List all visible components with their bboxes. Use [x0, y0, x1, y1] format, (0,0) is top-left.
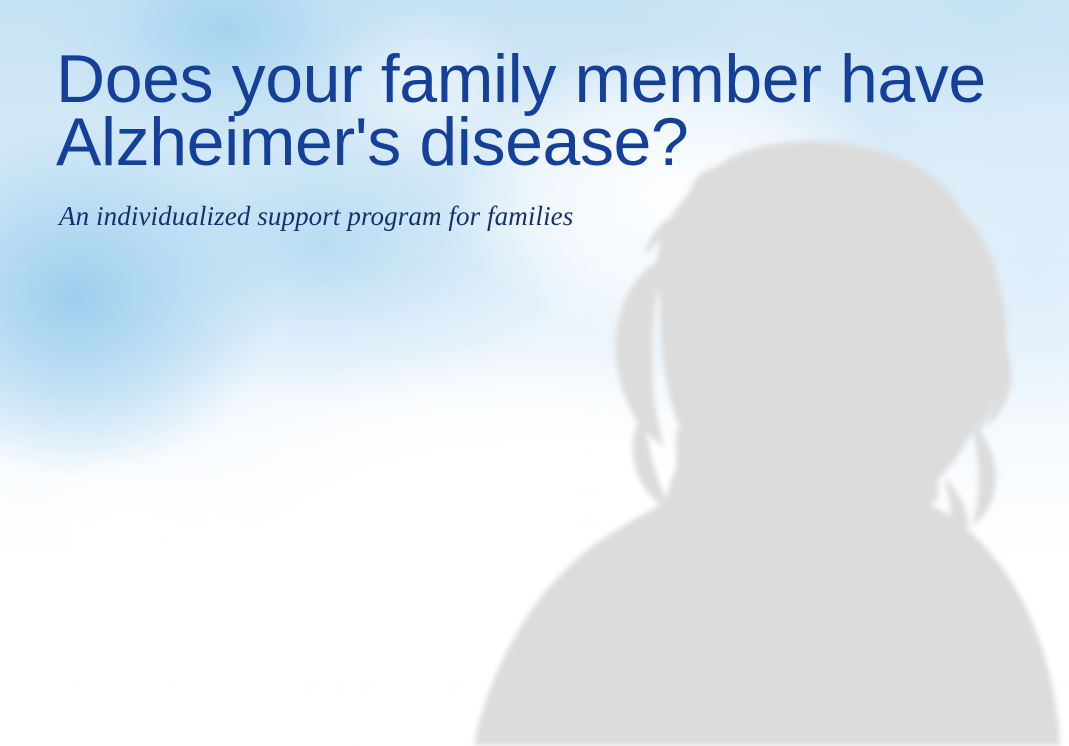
page-subtitle: An individualized support program for fa… — [56, 174, 986, 232]
page-title: Does your family member have Alzheimer's… — [56, 48, 986, 174]
poster-canvas: Does your family member have Alzheimer's… — [0, 0, 1069, 746]
text-block: Does your family member have Alzheimer's… — [56, 48, 986, 232]
